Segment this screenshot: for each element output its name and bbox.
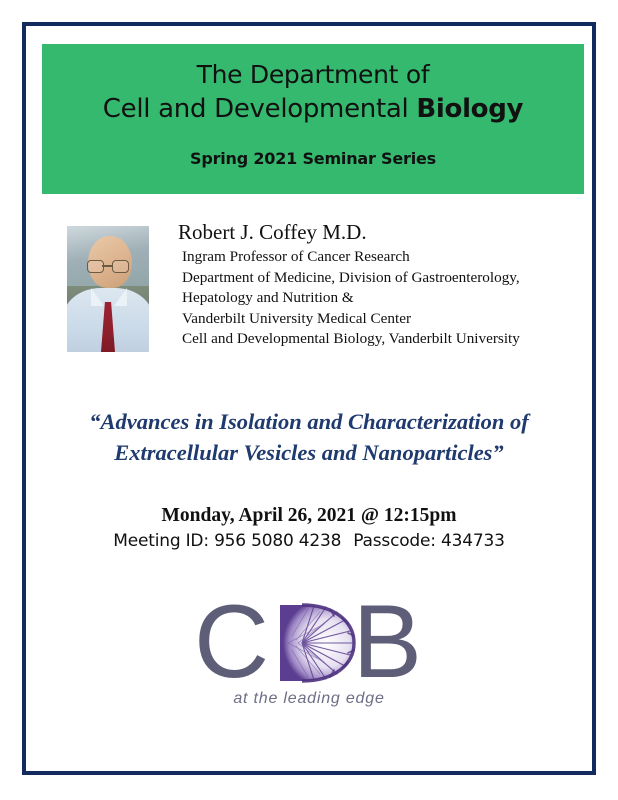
talk-title-line-2: Extracellular Vesicles and Nanoparticles… bbox=[36, 437, 582, 468]
zoom-credentials-line: Meeting ID: 956 5080 4238Passcode: 43473… bbox=[26, 529, 592, 553]
seminar-date-time: Monday, April 26, 2021 @ 12:15pm bbox=[26, 503, 592, 529]
cdb-logo-letter-c: C bbox=[194, 596, 269, 688]
speaker-affiliation-line: Department of Medicine, Division of Gast… bbox=[178, 268, 586, 289]
speaker-affiliation-line: Hepatology and Nutrition & bbox=[178, 288, 586, 309]
speaker-details: Robert J. Coffey M.D. Ingram Professor o… bbox=[178, 218, 586, 350]
cdb-logo-tagline: at the leading edge bbox=[26, 690, 592, 708]
photo-eyeglass-right bbox=[112, 260, 129, 273]
microscopy-image-d-icon bbox=[272, 600, 358, 686]
speaker-name: Robert J. Coffey M.D. bbox=[178, 218, 586, 246]
passcode-value: 434733 bbox=[441, 531, 505, 551]
department-header-line-2: Cell and Developmental Biology bbox=[42, 91, 584, 127]
cdb-logo-letters: C bbox=[194, 596, 424, 688]
speaker-affiliation-line: Cell and Developmental Biology, Vanderbi… bbox=[178, 329, 586, 350]
department-header-line-2-prefix: Cell and Developmental bbox=[103, 94, 417, 124]
seminar-series-subtitle: Spring 2021 Seminar Series bbox=[42, 149, 584, 168]
poster-frame: The Department of Cell and Developmental… bbox=[22, 22, 596, 775]
photo-collar-right bbox=[114, 288, 127, 306]
passcode-label: Passcode: bbox=[353, 531, 436, 551]
speaker-affiliation-line: Vanderbilt University Medical Center bbox=[178, 309, 586, 330]
poster-body: The Department of Cell and Developmental… bbox=[26, 26, 592, 771]
talk-title: “Advances in Isolation and Characterizat… bbox=[36, 406, 582, 468]
speaker-headshot-photo bbox=[67, 226, 149, 352]
cdb-logo: C bbox=[26, 596, 592, 721]
speaker-block: Robert J. Coffey M.D. Ingram Professor o… bbox=[26, 218, 592, 363]
meeting-id-value: 956 5080 4238 bbox=[214, 531, 341, 551]
meeting-id-label: Meeting ID: bbox=[113, 531, 209, 551]
speaker-affiliation-line: Ingram Professor of Cancer Research bbox=[178, 247, 586, 268]
department-header-band: The Department of Cell and Developmental… bbox=[42, 44, 584, 194]
photo-eyeglass-bridge bbox=[102, 265, 112, 267]
talk-title-line-1: “Advances in Isolation and Characterizat… bbox=[36, 406, 582, 437]
meeting-info-block: Monday, April 26, 2021 @ 12:15pm Meeting… bbox=[26, 503, 592, 553]
department-header-line-1: The Department of bbox=[42, 58, 584, 91]
department-header-line-2-emphasis: Biology bbox=[416, 94, 523, 124]
cdb-logo-letter-b: B bbox=[353, 596, 422, 688]
photo-collar-left bbox=[91, 288, 104, 306]
